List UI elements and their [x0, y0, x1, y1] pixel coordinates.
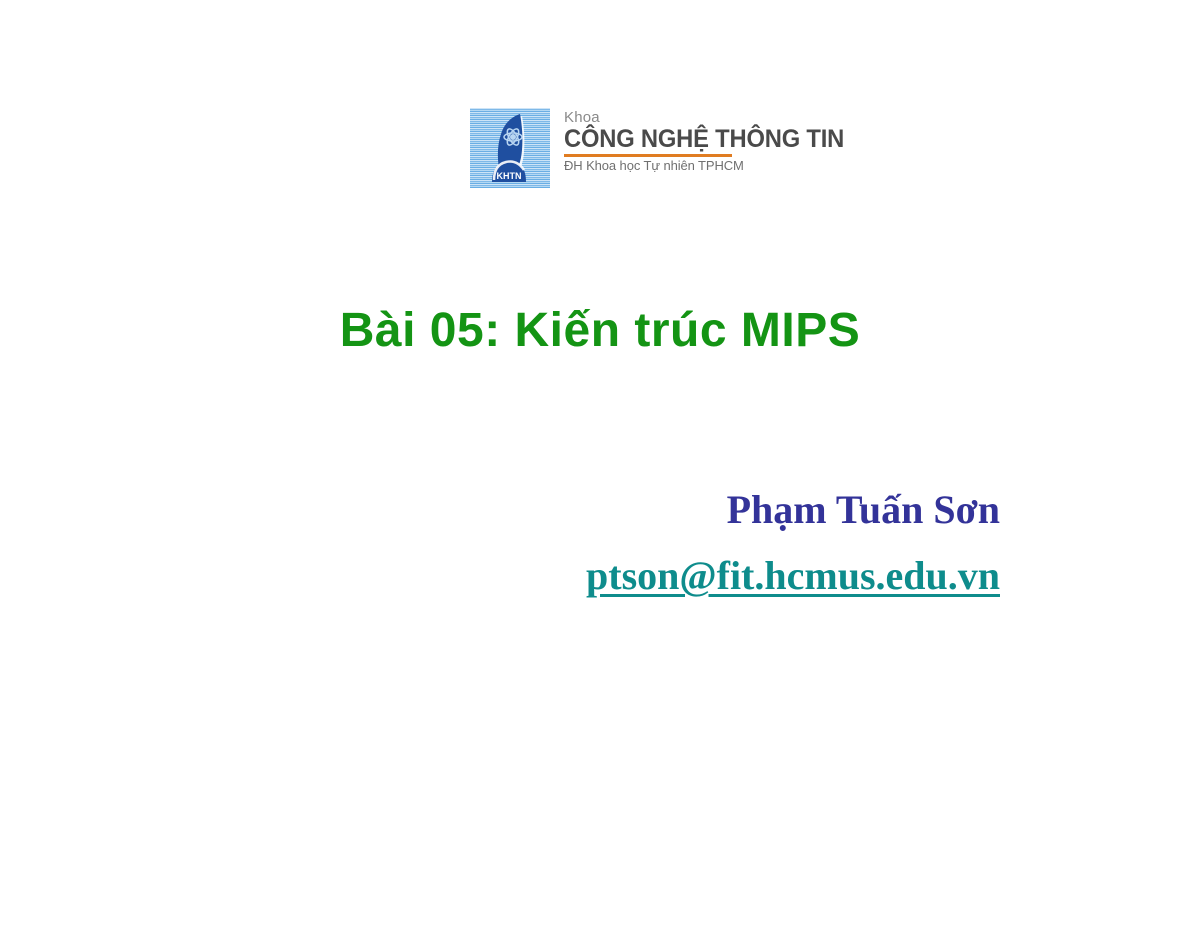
author-name: Phạm Tuấn Sơn — [300, 486, 1000, 534]
logo-line-university: ĐH Khoa học Tự nhiên TPHCM — [564, 159, 859, 173]
khtn-emblem-icon: KHTN — [470, 108, 550, 188]
khtn-acronym: KHTN — [497, 171, 522, 181]
logo-orange-rule — [564, 154, 732, 157]
presentation-slide: KHTN Khoa CÔNG NGHỆ THÔNG TIN ĐH Khoa họ… — [0, 0, 1200, 927]
author-email-link[interactable]: ptson@fit.hcmus.edu.vn — [586, 553, 1000, 598]
slide-title: Bài 05: Kiến trúc MIPS — [0, 303, 1200, 358]
faculty-logo-lockup: KHTN Khoa CÔNG NGHỆ THÔNG TIN ĐH Khoa họ… — [470, 108, 859, 188]
logo-line-faculty: CÔNG NGHỆ THÔNG TIN — [564, 126, 844, 153]
logo-line-khoa: Khoa — [564, 110, 859, 126]
faculty-logo-text: Khoa CÔNG NGHỆ THÔNG TIN ĐH Khoa học Tự … — [564, 108, 859, 174]
author-block: Phạm Tuấn Sơn ptson@fit.hcmus.edu.vn — [300, 486, 1028, 600]
author-email[interactable]: ptson@fit.hcmus.edu.vn — [300, 552, 1000, 600]
